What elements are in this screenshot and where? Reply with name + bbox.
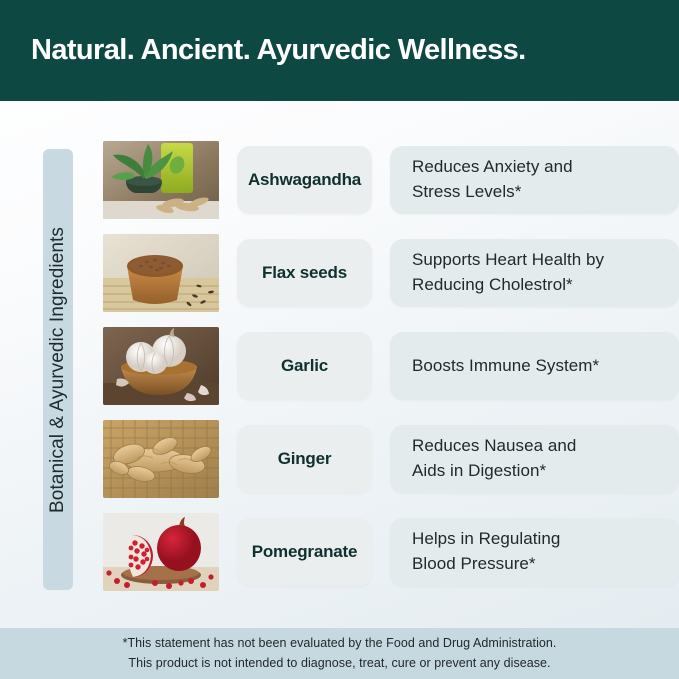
page-title: Natural. Ancient. Ayurvedic Wellness. [0,35,526,67]
ingredient-name: Garlic [281,356,328,376]
ingredient-name: Ginger [278,449,332,469]
ingredient-name-chip: Garlic [237,332,372,400]
header-banner: Natural. Ancient. Ayurvedic Wellness. [0,0,679,101]
ingredient-name: Pomegranate [252,542,358,562]
ingredient-benefit-chip: Boosts Immune System* [390,332,679,400]
ashwagandha-photo [103,141,219,219]
ingredient-benefit: Boosts Immune System* [412,354,599,379]
ingredients-infographic: Natural. Ancient. Ayurvedic Wellness. Bo… [0,0,679,679]
ingredient-benefit: Helps in Regulating Blood Pressure* [412,527,560,576]
ingredient-benefit: Reduces Nausea and Aids in Digestion* [412,434,576,483]
ingredient-name-chip: Pomegranate [237,518,372,586]
ingredient-name: Flax seeds [262,263,347,283]
ingredient-benefit: Supports Heart Health by Reducing Choles… [412,248,604,297]
ingredient-benefit-chip: Reduces Nausea and Aids in Digestion* [390,425,679,493]
ingredient-name: Ashwagandha [248,170,361,190]
ingredient-row: Pomegranate Helps in Regulating Blood Pr… [103,513,679,591]
vertical-axis-label: Botanical & Ayurvedic Ingredients [43,149,73,590]
disclaimer-footer: *This statement has not been evaluated b… [0,628,679,679]
ingredient-rows: Ashwagandha Reduces Anxiety and Stress L… [103,137,679,607]
pomegranate-photo [103,513,219,591]
disclaimer-line-1: *This statement has not been evaluated b… [123,634,557,653]
ingredient-benefit-chip: Reduces Anxiety and Stress Levels* [390,146,679,214]
disclaimer-line-2: This product is not intended to diagnose… [128,654,550,673]
ingredient-row: Garlic Boosts Immune System* [103,327,679,405]
ingredient-benefit-chip: Supports Heart Health by Reducing Choles… [390,239,679,307]
ingredient-row: Ashwagandha Reduces Anxiety and Stress L… [103,141,679,219]
ingredient-benefit: Reduces Anxiety and Stress Levels* [412,155,573,204]
ginger-photo [103,420,219,498]
ingredient-benefit-chip: Helps in Regulating Blood Pressure* [390,518,679,586]
garlic-photo [103,327,219,405]
ingredient-row: Ginger Reduces Nausea and Aids in Digest… [103,420,679,498]
content-area: Botanical & Ayurvedic Ingredients [0,101,679,628]
flax-seeds-photo [103,234,219,312]
ingredient-row: Flax seeds Supports Heart Health by Redu… [103,234,679,312]
ingredient-name-chip: Ginger [237,425,372,493]
ingredient-name-chip: Flax seeds [237,239,372,307]
axis-label-text: Botanical & Ayurvedic Ingredients [47,226,69,512]
ingredient-name-chip: Ashwagandha [237,146,372,214]
